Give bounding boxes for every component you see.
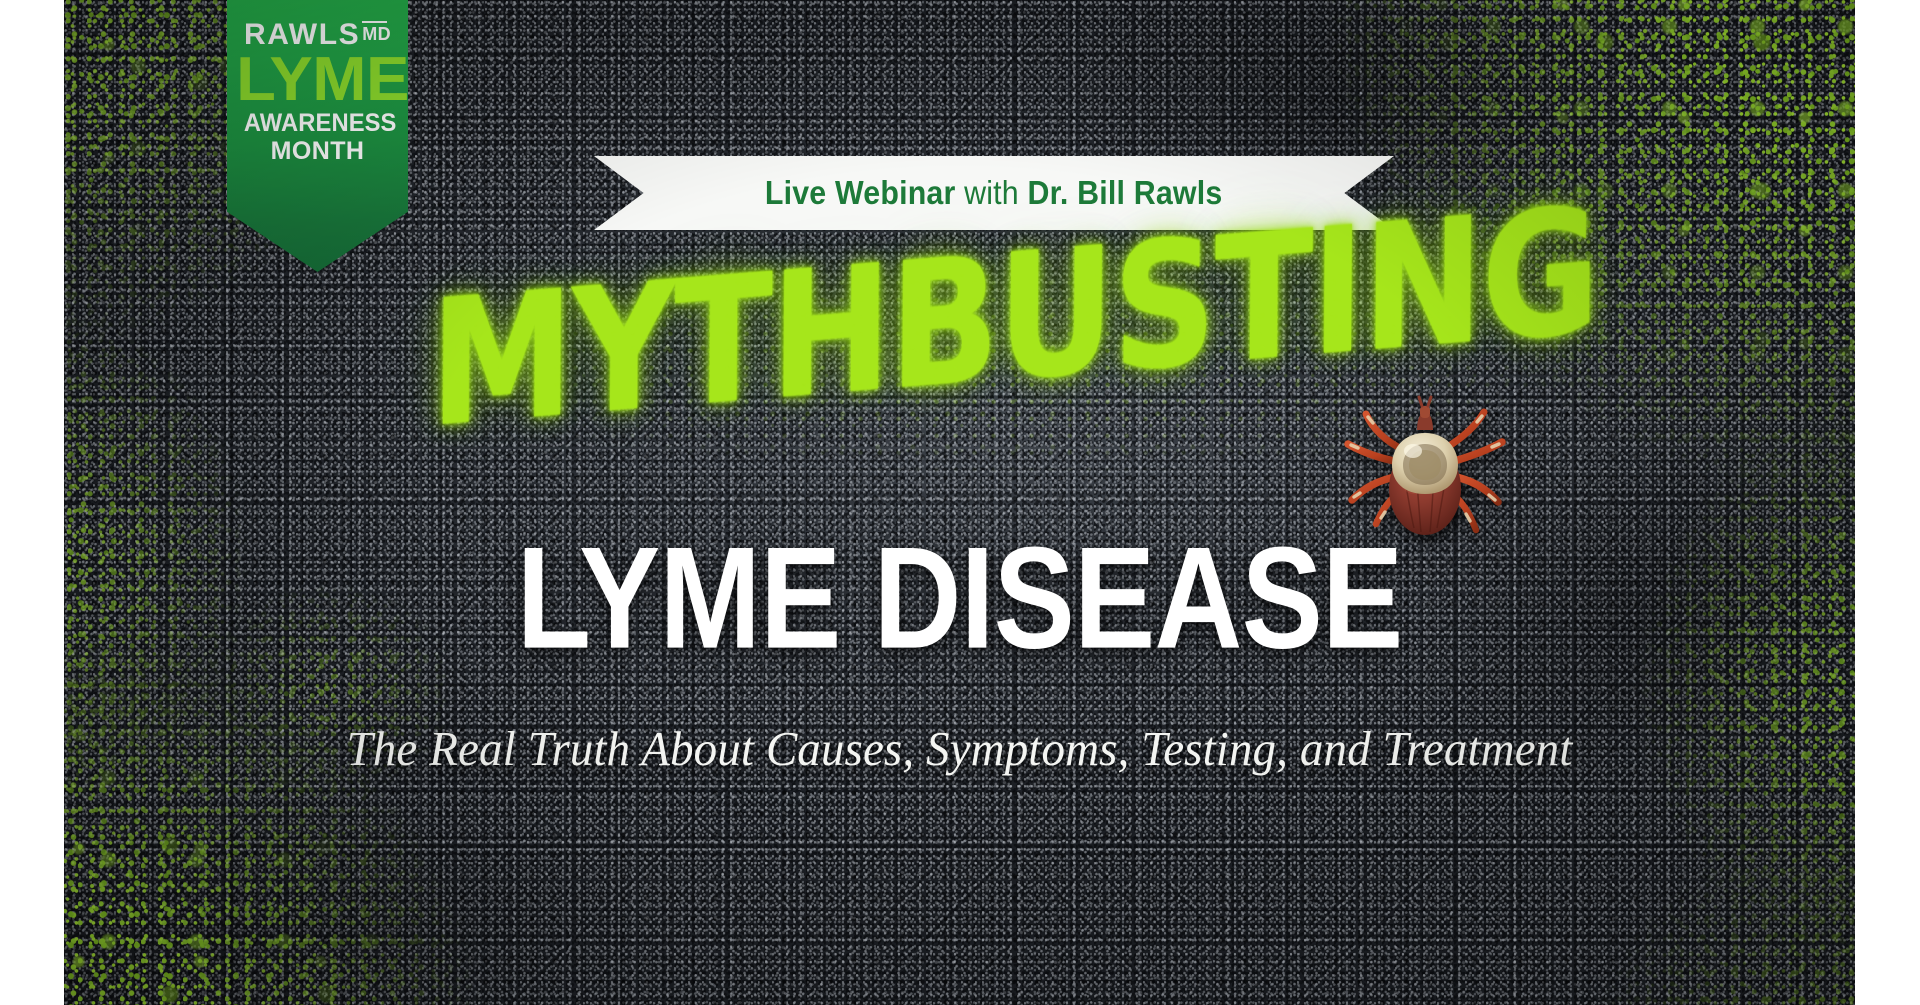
badge-line-lyme: LYME	[236, 51, 399, 108]
ribbon-speaker-name: Dr. Bill Rawls	[1028, 174, 1223, 211]
subtitle-text: The Real Truth About Causes, Symptoms, T…	[100, 722, 1819, 776]
badge-line-awareness: AWARENESS	[244, 111, 391, 137]
ribbon-connector: with	[956, 174, 1028, 211]
badge-credential-group: MD	[362, 21, 391, 46]
webinar-ribbon-banner: Live Webinar with Dr. Bill Rawls	[594, 156, 1394, 230]
page-title-lyme-disease: LYME DISEASE	[145, 527, 1775, 672]
ribbon-text: Live Webinar with Dr. Bill Rawls	[765, 174, 1223, 212]
ribbon-prefix: Live Webinar	[765, 174, 956, 211]
badge-line-month: MONTH	[240, 138, 395, 165]
page-root: RAWLS MD LYME AWARENESS MONTH Live Webin…	[0, 0, 1920, 1005]
webinar-promo-banner: RAWLS MD LYME AWARENESS MONTH Live Webin…	[64, 0, 1855, 1005]
badge-credential-md: MD	[362, 23, 391, 46]
